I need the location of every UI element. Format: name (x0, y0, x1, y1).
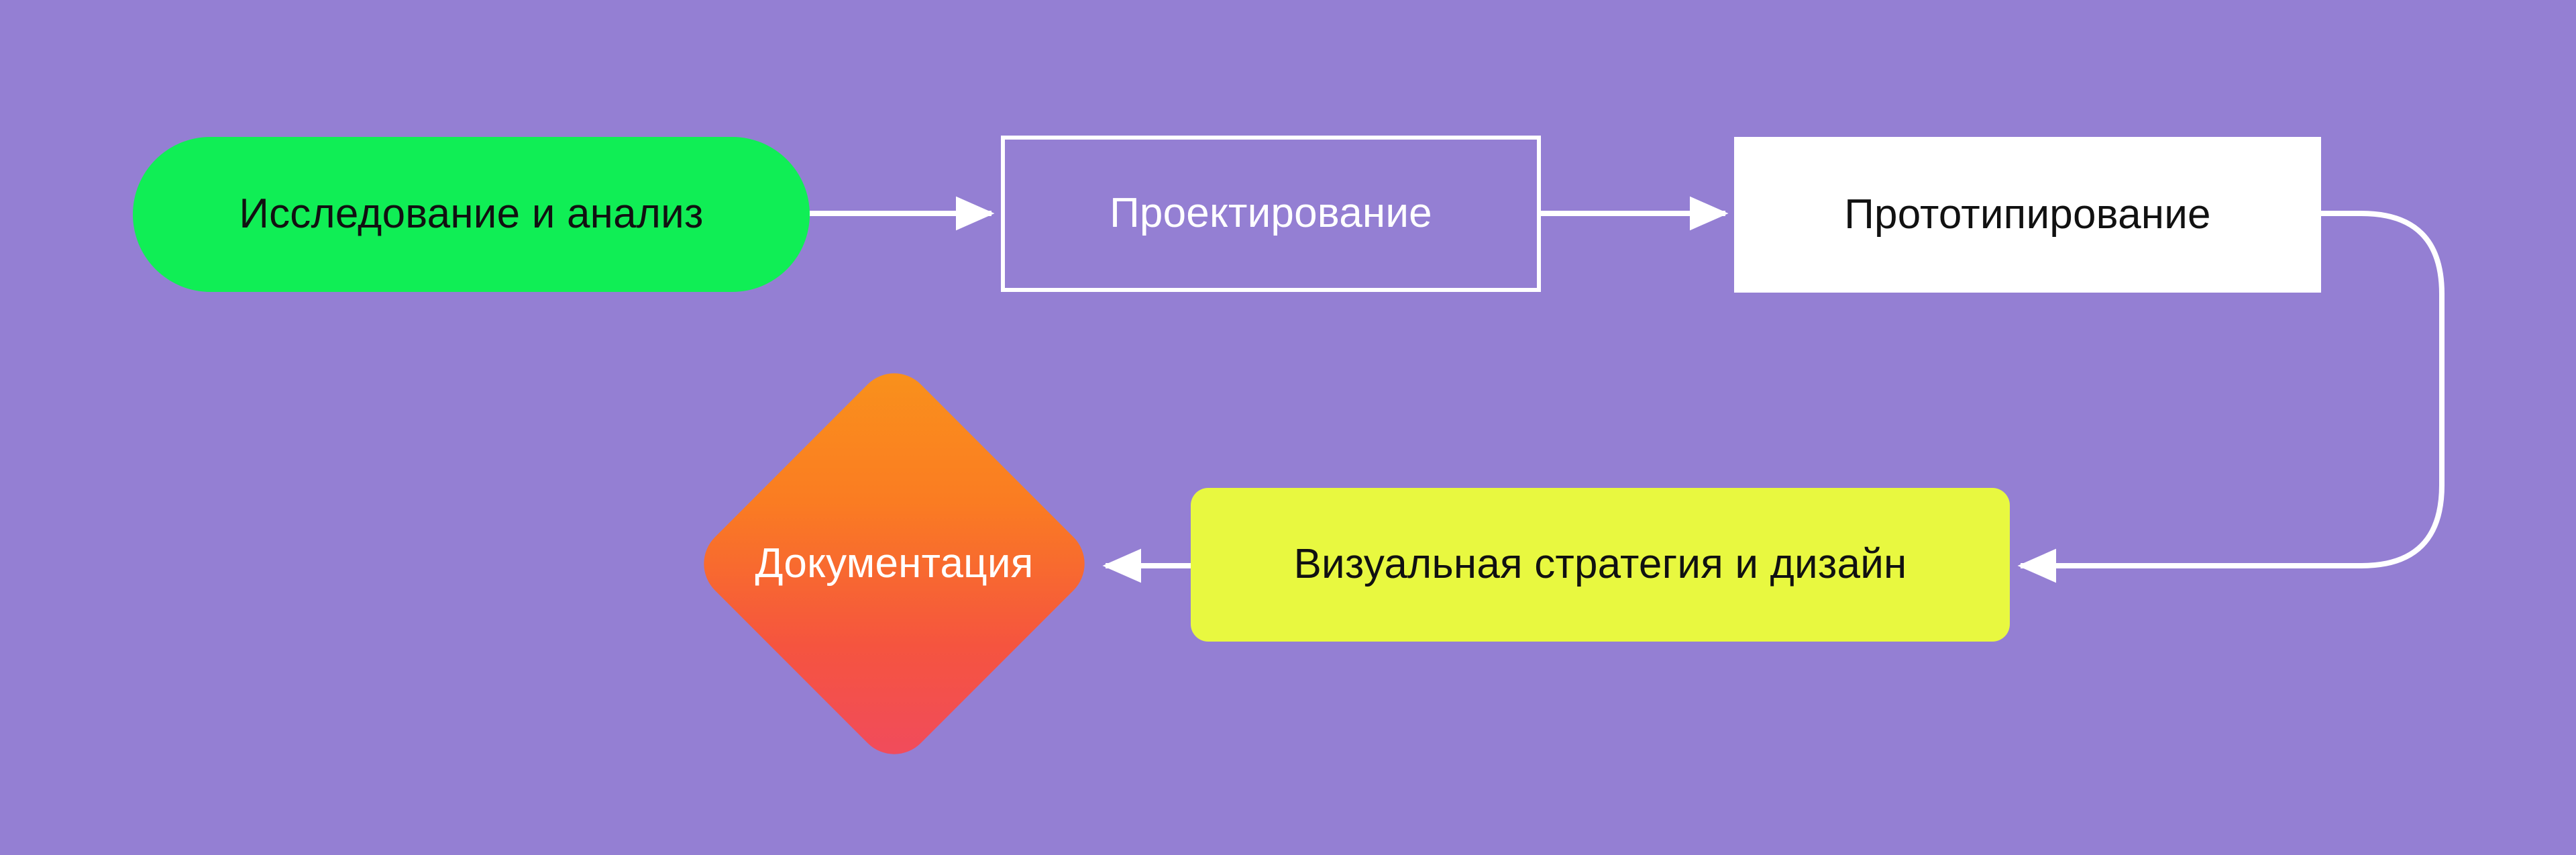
node-documentation[interactable]: Документация (688, 358, 1100, 770)
node-research-label: Исследование и анализ (239, 191, 703, 237)
flowchart-canvas: Исследование и анализ Проектирование Про… (0, 0, 2576, 855)
node-design[interactable]: Проектирование (1001, 136, 1541, 292)
node-design-label: Проектирование (1110, 191, 1432, 236)
node-visual-label: Визуальная стратегия и дизайн (1294, 542, 1907, 587)
node-visual[interactable]: Визуальная стратегия и дизайн (1191, 488, 2010, 642)
node-documentation-label: Документация (688, 541, 1100, 587)
node-research[interactable]: Исследование и анализ (133, 137, 810, 292)
node-prototype-label: Прототипирование (1844, 192, 2210, 238)
connector-layer (0, 0, 2576, 855)
node-prototype[interactable]: Прототипирование (1734, 137, 2321, 293)
